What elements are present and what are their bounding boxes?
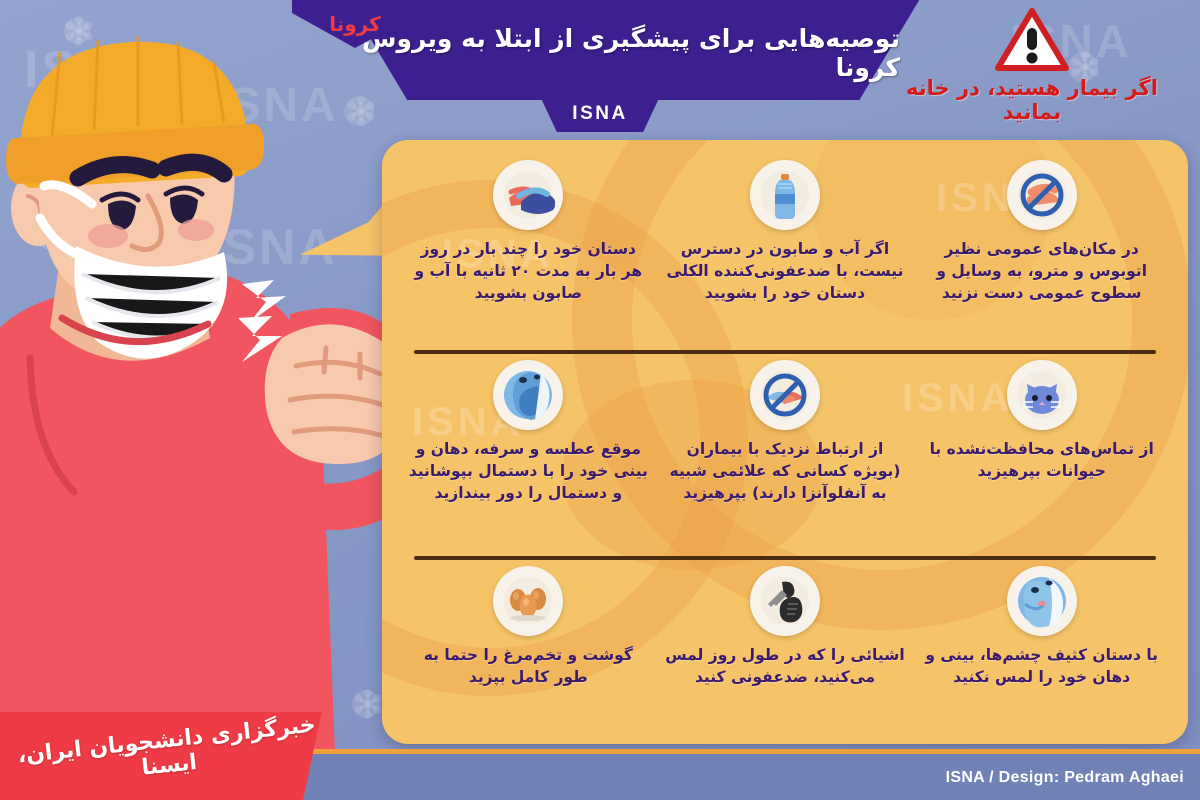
sanitizer-bottle-icon: [750, 160, 820, 230]
tips-row: با دستان کثیف چشم‌ها، بینی و دهان خود را…: [400, 560, 1170, 734]
tip-text: موقع عطسه و سرفه، دهان و بینی خود را با …: [408, 438, 649, 504]
tip-cell[interactable]: گوشت و تخم‌مرغ را حتما به طور کامل بپزید: [400, 560, 657, 734]
tip-cell[interactable]: از ارتباط نزدیک با بیماران (بویژه کسانی …: [657, 354, 914, 560]
washing-hands-icon: [493, 160, 563, 230]
tip-text: از تماس‌های محافظت‌نشده با حیوانات بپرهی…: [921, 438, 1162, 482]
tip-text: اشیائی را که در طول روز لمس می‌کنید، ضدع…: [665, 644, 906, 688]
eggs-icon: [493, 566, 563, 636]
car-keys-icon: [750, 566, 820, 636]
tips-card: ISNA ISNA ISNA ISNA در مکان‌های عمومی نظ…: [382, 140, 1188, 744]
tip-cell[interactable]: اگر آب و صابون در دسترس نیست، با ضدعفونی…: [657, 154, 914, 354]
tips-row: از تماس‌های محافظت‌نشده با حیوانات بپرهی…: [400, 354, 1170, 560]
cat-animal-icon: [1007, 360, 1077, 430]
stay-home-warning: اگر بیمار هستید، در خانه بمانید: [882, 8, 1182, 124]
tip-text: از ارتباط نزدیک با بیماران (بویژه کسانی …: [665, 438, 906, 504]
tip-cell[interactable]: دستان خود را چند بار در روز هر بار به مد…: [400, 154, 657, 354]
tip-text: در مکان‌های عمومی نظیر اتوبوس و مترو، به…: [921, 238, 1162, 304]
cover-sneeze-tissue-icon: [493, 360, 563, 430]
tip-cell[interactable]: در مکان‌های عمومی نظیر اتوبوس و مترو، به…: [913, 154, 1170, 354]
sick-man-coughing-illustration: [0, 18, 410, 778]
brand-tab-isna: ISNA: [540, 96, 660, 132]
no-touching-hand-icon: [1007, 160, 1077, 230]
tip-text: اگر آب و صابون در دسترس نیست، با ضدعفونی…: [665, 238, 906, 304]
infographic-root: ISNA ISNA ISNA ISNA ISNA ISNA ISNA: [0, 0, 1200, 800]
tip-text: با دستان کثیف چشم‌ها، بینی و دهان خود را…: [921, 644, 1162, 688]
tip-cell[interactable]: با دستان کثیف چشم‌ها، بینی و دهان خود را…: [913, 560, 1170, 734]
tip-cell[interactable]: از تماس‌های محافظت‌نشده با حیوانات بپرهی…: [913, 354, 1170, 560]
tip-cell[interactable]: اشیائی را که در طول روز لمس می‌کنید، ضدع…: [657, 560, 914, 734]
tips-grid: در مکان‌های عمومی نظیر اتوبوس و مترو، به…: [382, 140, 1188, 744]
tips-row: در مکان‌های عمومی نظیر اتوبوس و مترو، به…: [400, 154, 1170, 354]
footer-credit: ISNA / Design: Pedram Aghaei: [946, 769, 1184, 787]
tip-text: دستان خود را چند بار در روز هر بار به مد…: [408, 238, 649, 304]
corner-flag-label: کرونا: [296, 12, 414, 36]
no-handshake-icon: [750, 360, 820, 430]
tip-text: گوشت و تخم‌مرغ را حتما به طور کامل بپزید: [408, 644, 649, 688]
do-not-touch-face-icon: [1007, 566, 1077, 636]
stay-home-warning-text: اگر بیمار هستید، در خانه بمانید: [882, 76, 1182, 124]
warning-triangle-icon: [995, 8, 1069, 72]
tip-cell[interactable]: موقع عطسه و سرفه، دهان و بینی خود را با …: [400, 354, 657, 560]
